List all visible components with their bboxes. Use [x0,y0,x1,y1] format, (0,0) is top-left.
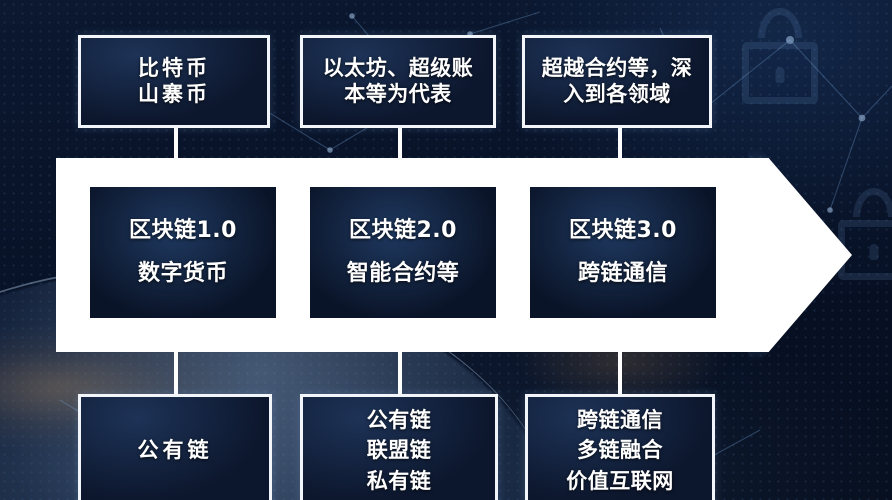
lock-shackle [853,188,892,217]
connector-bottom-1 [174,350,178,396]
top-card-3-line-1: 超越合约等，深 [542,56,693,82]
bottom-card-1[interactable]: 公有链 [78,394,272,500]
bottom-card-3-line-3: 价值互联网 [566,469,674,495]
lock-keyhole [870,244,879,260]
top-card-2[interactable]: 以太坊、超级账 本等为代表 [300,35,496,128]
stage-1-subtitle: 数字货币 [138,261,228,288]
stage-2-title: 区块链2.0 [349,218,457,245]
top-card-3-line-2: 入到各领域 [563,82,671,108]
top-card-2-line-1: 以太坊、超级账 [323,56,474,82]
connector-top-1 [174,128,178,160]
top-card-2-line-2: 本等为代表 [344,82,452,108]
bottom-card-3-line-2: 多链融合 [577,438,663,464]
lock-keyhole [776,67,785,83]
stage-2-subtitle: 智能合约等 [347,261,460,288]
connector-bottom-3 [618,350,622,396]
stage-1-title: 区块链1.0 [129,218,237,245]
stage-card-blockchain-3[interactable]: 区块链3.0 跨链通信 [530,187,716,318]
bottom-card-2-line-2: 联盟链 [367,438,432,464]
lock-icon [742,8,818,104]
stage-card-blockchain-2[interactable]: 区块链2.0 智能合约等 [310,187,496,318]
lock-shackle [758,8,802,38]
connector-top-2 [398,128,402,160]
top-card-1[interactable]: 比特币 山寨币 [78,35,270,128]
bottom-card-3[interactable]: 跨链通信 多链融合 价值互联网 [525,394,715,500]
stage-3-title: 区块链3.0 [569,218,677,245]
stage-card-blockchain-1[interactable]: 区块链1.0 数字货币 [90,187,276,318]
lock-body [742,42,818,104]
bottom-card-1-line-1: 公有链 [138,438,213,464]
bottom-card-2[interactable]: 公有链 联盟链 私有链 [300,394,498,500]
lock-icon [838,188,892,280]
top-card-1-line-2: 山寨币 [138,82,210,108]
connector-bottom-2 [398,350,402,396]
connector-top-3 [618,128,622,160]
bottom-card-2-line-3: 私有链 [367,469,432,495]
diagram-canvas: 比特币 山寨币 以太坊、超级账 本等为代表 超越合约等，深 入到各领域 区块链1… [0,0,892,500]
top-card-3[interactable]: 超越合约等，深 入到各领域 [522,35,712,128]
bottom-card-2-line-1: 公有链 [367,408,432,434]
top-card-1-line-1: 比特币 [138,56,210,82]
stage-3-subtitle: 跨链通信 [578,261,668,288]
bottom-card-3-line-1: 跨链通信 [577,408,663,434]
